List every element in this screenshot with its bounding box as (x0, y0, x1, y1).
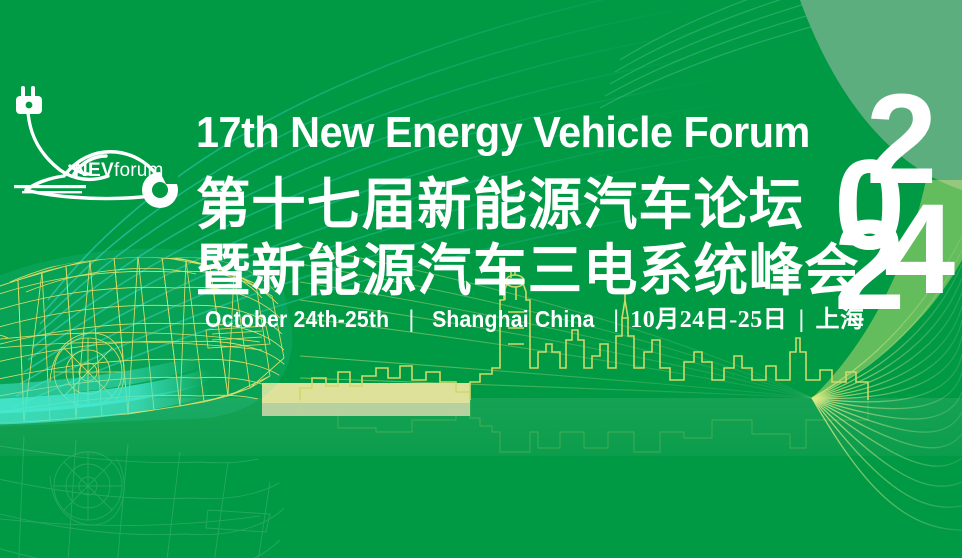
event-location-english: Shanghai China (433, 306, 595, 333)
meta-separator-3: | (787, 306, 815, 334)
year-badge-2024: 2 0 2 4 (838, 104, 958, 316)
year-digit-4: 4 (884, 200, 955, 300)
meta-separator-1: | (397, 306, 425, 334)
event-date-english: October 24th-25th (205, 306, 389, 333)
event-date-chinese: 10月24日-25日 (630, 299, 787, 334)
headline-chinese-line2: 暨新能源汽车三电系统峰会 (196, 226, 859, 307)
headline-english: 17th New Energy Vehicle Forum (196, 108, 810, 158)
meta-separator-2: | (602, 306, 630, 334)
poster-content: 17th New Energy Vehicle Forum 第十七届新能源汽车论… (0, 0, 962, 558)
event-meta-row: October 24th-25th | Shanghai China | 10月… (197, 299, 865, 334)
event-poster: NEVforum 17th New Energy Vehicle Forum 第… (0, 0, 962, 558)
